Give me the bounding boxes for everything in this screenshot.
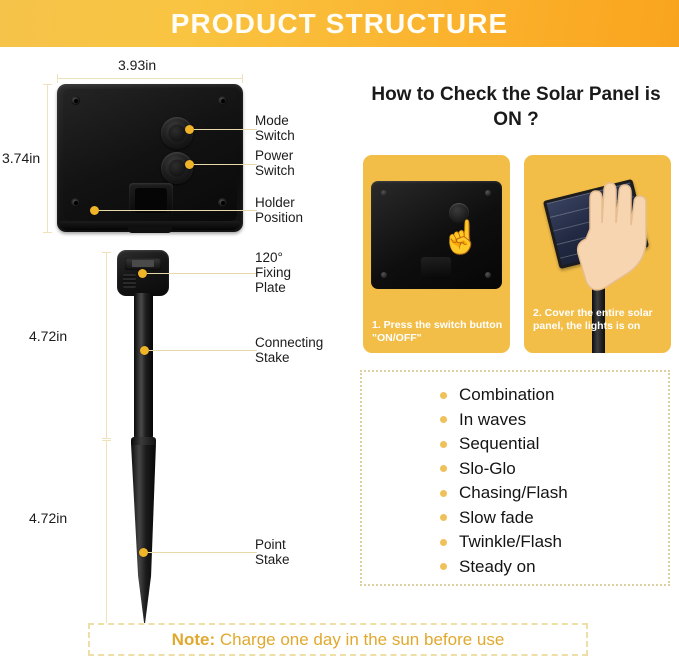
check-section-title: How to Check the Solar Panel is ON ? bbox=[360, 82, 672, 132]
dimension-height-label: 3.74in bbox=[2, 150, 40, 166]
point-stake bbox=[130, 445, 157, 627]
mode-label: Slo-Glo bbox=[459, 459, 516, 479]
callout-line-connecting-stake bbox=[149, 350, 257, 351]
panel-lip-tab bbox=[128, 227, 172, 233]
screw-icon bbox=[71, 96, 80, 105]
mode-label: Slow fade bbox=[459, 508, 534, 528]
mode-label: In waves bbox=[459, 410, 526, 430]
list-item: Slow fade bbox=[440, 506, 568, 531]
header-banner: PRODUCT STRUCTURE bbox=[0, 0, 679, 47]
callout-line-point-stake bbox=[148, 552, 257, 553]
lighting-modes-box: Combination In waves Sequential Slo-Glo … bbox=[360, 370, 670, 586]
screw-icon bbox=[381, 190, 387, 196]
list-item: Twinkle/Flash bbox=[440, 530, 568, 555]
callout-dot-power-switch bbox=[185, 160, 194, 169]
callout-line-holder-position bbox=[99, 210, 257, 211]
dimension-stake-lower-line bbox=[106, 440, 107, 627]
list-item: Slo-Glo bbox=[440, 457, 568, 482]
callout-label-connecting-stake: Connecting Stake bbox=[255, 335, 323, 365]
hand-covering-panel-icon bbox=[576, 177, 668, 297]
bullet-icon bbox=[440, 465, 447, 472]
holder-position-notch bbox=[129, 183, 173, 213]
callout-line-power-switch bbox=[194, 164, 257, 165]
press-switch-card: ☝ 1. Press the switch button "ON/OFF" bbox=[363, 155, 510, 353]
cover-panel-card: 2. Cover the entire solar panel, the lig… bbox=[524, 155, 671, 353]
mini-holder-notch bbox=[421, 257, 451, 279]
callout-line-mode-switch bbox=[194, 129, 257, 130]
dimension-width-line bbox=[57, 78, 243, 79]
dimension-stake-upper-cap-top bbox=[102, 252, 111, 253]
callout-dot-holder-position bbox=[90, 206, 99, 215]
dimension-stake-upper-line bbox=[106, 252, 107, 439]
bullet-icon bbox=[440, 416, 447, 423]
mode-label: Combination bbox=[459, 385, 554, 405]
mode-label: Steady on bbox=[459, 557, 536, 577]
dimension-stake-lower-cap-top bbox=[102, 440, 111, 441]
screw-icon bbox=[71, 198, 80, 207]
list-item: Steady on bbox=[440, 555, 568, 580]
list-item: Chasing/Flash bbox=[440, 481, 568, 506]
screw-icon bbox=[485, 190, 491, 196]
callout-line-fixing-plate bbox=[147, 273, 257, 274]
list-item: In waves bbox=[440, 408, 568, 433]
mode-label: Twinkle/Flash bbox=[459, 532, 562, 552]
bullet-icon bbox=[440, 514, 447, 521]
dimension-stake-upper-cap-bottom bbox=[102, 438, 111, 439]
callout-label-holder-position: Holder Position bbox=[255, 195, 303, 225]
page-title: PRODUCT STRUCTURE bbox=[171, 8, 509, 40]
mini-solar-panel-back bbox=[371, 181, 502, 289]
dimension-height-cap-top bbox=[43, 84, 52, 85]
press-switch-caption: 1. Press the switch button "ON/OFF" bbox=[372, 319, 503, 345]
callout-dot-fixing-plate bbox=[138, 269, 147, 278]
callout-dot-point-stake bbox=[139, 548, 148, 557]
dimension-height-cap-bottom bbox=[43, 232, 52, 233]
bullet-icon bbox=[440, 490, 447, 497]
screw-icon bbox=[218, 198, 227, 207]
cover-panel-caption: 2. Cover the entire solar panel, the lig… bbox=[533, 307, 664, 333]
dimension-stake-lower-label: 4.72in bbox=[29, 510, 67, 526]
bullet-icon bbox=[440, 441, 447, 448]
mode-label: Sequential bbox=[459, 434, 539, 454]
callout-label-fixing-plate: 120° Fixing Plate bbox=[255, 250, 291, 295]
fixing-plate-ridge bbox=[123, 274, 136, 288]
dimension-stake-upper-label: 4.72in bbox=[29, 328, 67, 344]
dimension-height-line bbox=[47, 84, 48, 232]
list-item: Sequential bbox=[440, 432, 568, 457]
connecting-stake bbox=[134, 293, 153, 439]
callout-label-point-stake: Point Stake bbox=[255, 537, 290, 567]
dimension-width-label: 3.93in bbox=[118, 57, 156, 73]
screw-icon bbox=[381, 272, 387, 278]
bullet-icon bbox=[440, 563, 447, 570]
panel-bottom-lip bbox=[60, 221, 240, 230]
screw-icon bbox=[218, 96, 227, 105]
callout-label-mode-switch: Mode Switch bbox=[255, 113, 295, 143]
pointing-hand-icon: ☝ bbox=[441, 221, 481, 253]
lighting-modes-list: Combination In waves Sequential Slo-Glo … bbox=[440, 383, 568, 579]
callout-label-power-switch: Power Switch bbox=[255, 148, 295, 178]
callout-dot-connecting-stake bbox=[140, 346, 149, 355]
dimension-width-cap-left bbox=[57, 74, 58, 83]
note-prefix: Note: bbox=[172, 630, 215, 649]
bullet-icon bbox=[440, 539, 447, 546]
dimension-width-cap-right bbox=[242, 74, 243, 83]
product-structure-diagram: 3.93in 3.74in 4.72in 4.72in Mode Swit bbox=[0, 47, 352, 607]
list-item: Combination bbox=[440, 383, 568, 408]
mode-label: Chasing/Flash bbox=[459, 483, 568, 503]
note-text: Note: Charge one day in the sun before u… bbox=[172, 630, 505, 650]
screw-icon bbox=[485, 272, 491, 278]
note-body: Charge one day in the sun before use bbox=[215, 630, 504, 649]
note-bar: Note: Charge one day in the sun before u… bbox=[88, 623, 588, 656]
callout-dot-mode-switch bbox=[185, 125, 194, 134]
bullet-icon bbox=[440, 392, 447, 399]
